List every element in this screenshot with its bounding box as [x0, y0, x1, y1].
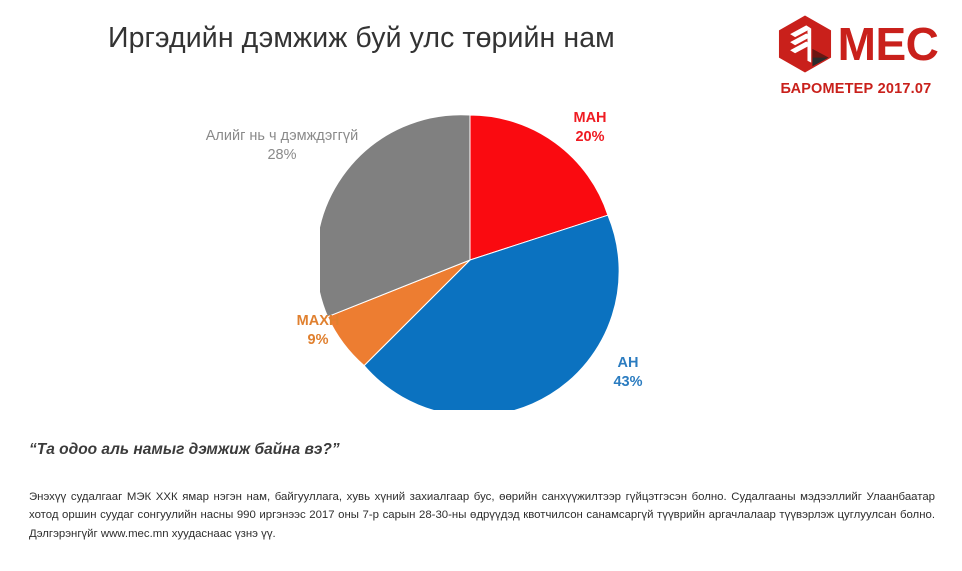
survey-question: “Та одоо аль намыг дэмжиж байна вэ?”: [29, 441, 340, 459]
pie-label-an-value: 43%: [598, 373, 658, 392]
pie-chart: МАН 20% АН 43% МАХН 9% Алийг нь ч дэмждэ…: [0, 90, 962, 435]
pie-label-man-name: МАН: [573, 110, 606, 126]
logo-wordmark: МЕС: [838, 21, 939, 67]
pie-label-maxn-value: 9%: [280, 331, 356, 350]
pie-label-maxn: МАХН 9%: [280, 312, 356, 350]
pie-label-none-name: Алийг нь ч дэмждэггүй: [206, 128, 358, 144]
pie-label-man-value: 20%: [562, 128, 618, 147]
logo-row: МЕС: [768, 8, 944, 80]
pie-label-an-name: АН: [618, 355, 639, 371]
pie-label-maxn-name: МАХН: [297, 313, 340, 329]
pie-label-none: Алийг нь ч дэмждэггүй 28%: [196, 127, 368, 165]
methodology-footnote: Энэхүү судалгааг МЭК ХХК ямар нэгэн нам,…: [29, 488, 935, 543]
pie-label-an: АН 43%: [598, 354, 658, 392]
pie-label-none-value: 28%: [196, 146, 368, 165]
mec-cube-logo-icon: [774, 13, 836, 75]
page-title: Иргэдийн дэмжиж буй улс төрийн нам: [108, 22, 748, 55]
pie-label-man: МАН 20%: [562, 109, 618, 147]
